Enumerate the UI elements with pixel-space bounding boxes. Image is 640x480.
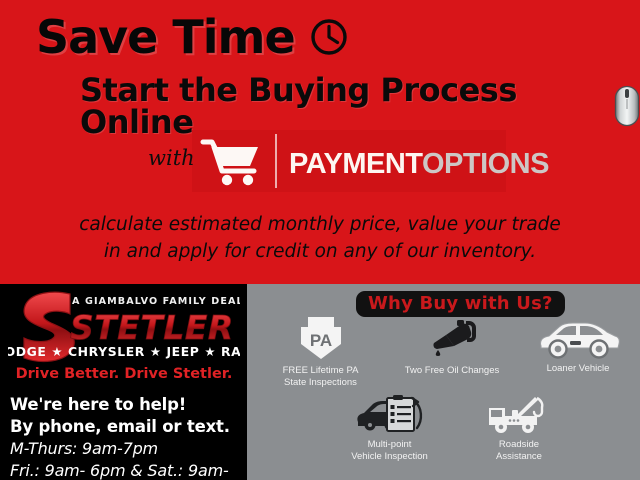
- advertisement-banner: Save Time Start the Buying Process Onlin…: [0, 0, 640, 480]
- tow-truck-icon: [459, 392, 579, 436]
- contact-hours-block: We're here to help! By phone, email or t…: [10, 394, 246, 480]
- hours-line-2: Fri.: 9am- 6pm & Sat.: 9am-5pm: [10, 460, 246, 480]
- contact-line-2: By phone, email or text.: [10, 416, 246, 438]
- computer-mouse-icon: [614, 85, 640, 127]
- feature-oil-changes: Two Free Oil Changes: [387, 314, 517, 377]
- feature-loaner-vehicle-label: Loaner Vehicle: [519, 363, 637, 375]
- with-label: with: [148, 146, 195, 170]
- why-buy-heading-text: Why Buy with Us?: [368, 293, 553, 314]
- feature-oil-changes-label: Two Free Oil Changes: [387, 365, 517, 377]
- payment-options-wordmark: PAYMENTOPTIONS: [289, 148, 549, 181]
- logo-divider: [275, 134, 277, 188]
- dealer-slogan: Drive Better. Drive Stetler.: [8, 366, 240, 382]
- hero-tagline-line-1: calculate estimated monthly price, value…: [0, 212, 640, 239]
- car-icon: [519, 312, 637, 360]
- wordmark-options: OPTIONS: [422, 148, 549, 180]
- hero-tagline-line-2: in and apply for credit on any of our in…: [0, 239, 640, 266]
- pennsylvania-keystone-icon: PA: [257, 314, 384, 362]
- contact-line-1: We're here to help!: [10, 394, 246, 416]
- svg-text:PA: PA: [309, 331, 331, 350]
- hero-red-panel: Save Time Start the Buying Process Onlin…: [0, 0, 640, 284]
- hours-line-1: M-Thurs: 9am-7pm: [10, 438, 246, 460]
- stetler-logo: A GIAMBALVO FAMILY DEALERSHIP STETLER DO…: [8, 288, 240, 380]
- logo-brands-text: DODGE ★ CHRYSLER ★ JEEP ★ RAM: [8, 344, 240, 359]
- wordmark-payment: PAYMENT: [289, 148, 422, 180]
- headline-save-time-text: Save Time: [36, 14, 295, 60]
- why-buy-panel: Why Buy with Us? PA FREE Lifetime PA Sta…: [247, 284, 640, 480]
- car-checklist-icon: [322, 392, 457, 436]
- hero-tagline: calculate estimated monthly price, value…: [0, 212, 640, 266]
- oil-can-icon: [387, 314, 517, 362]
- dealer-info-panel: A GIAMBALVO FAMILY DEALERSHIP STETLER DO…: [0, 284, 247, 480]
- headline-save-time: Save Time: [36, 14, 349, 60]
- feature-pa-inspections-label: FREE Lifetime PA State Inspections: [257, 365, 384, 389]
- feature-roadside-assistance: Roadside Assistance: [459, 392, 579, 463]
- headline-start-buying: Start the Buying Process Online: [80, 74, 640, 138]
- feature-loaner-vehicle: Loaner Vehicle: [519, 312, 637, 375]
- feature-roadside-assistance-label: Roadside Assistance: [459, 439, 579, 463]
- headline-start-buying-text: Start the Buying Process Online: [80, 74, 602, 138]
- logo-family-line: A GIAMBALVO FAMILY DEALERSHIP: [72, 296, 240, 307]
- clock-icon: [309, 17, 349, 57]
- logo-stetler-text: STETLER: [70, 308, 234, 347]
- feature-multipoint-inspection-label: Multi-point Vehicle Inspection: [322, 439, 457, 463]
- feature-multipoint-inspection: Multi-point Vehicle Inspection: [322, 392, 457, 463]
- feature-pa-inspections: PA FREE Lifetime PA State Inspections: [257, 314, 384, 389]
